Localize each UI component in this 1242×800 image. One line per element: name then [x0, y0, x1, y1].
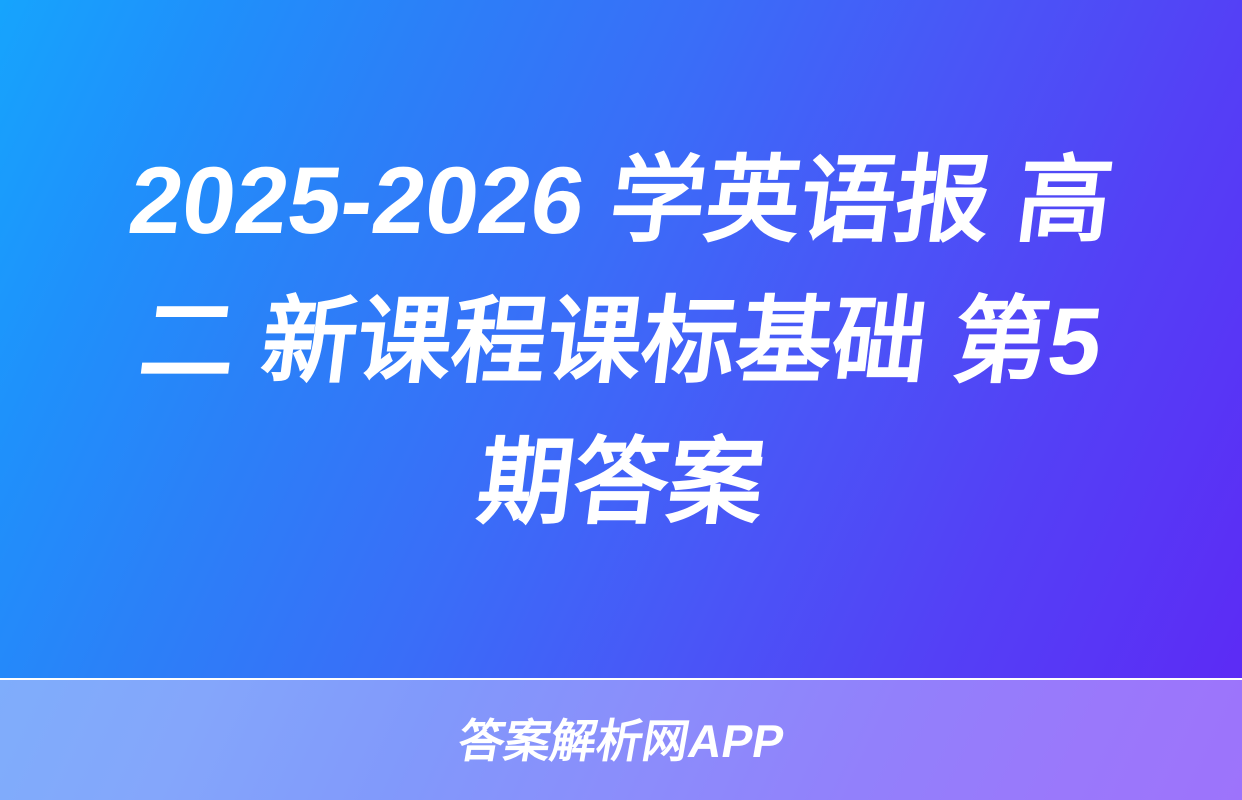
title-line-3: 期答案: [52, 413, 1189, 554]
title-line-2: 二 新课程课标基础 第5: [52, 272, 1189, 413]
footer-watermark-band: 答案解析网APP: [0, 680, 1242, 800]
hero-gradient-background: 2025-2026 学英语报 高 二 新课程课标基础 第5 期答案: [0, 0, 1242, 678]
title-line-1: 2025-2026 学英语报 高: [52, 131, 1189, 272]
poster-title: 2025-2026 学英语报 高 二 新课程课标基础 第5 期答案: [61, 125, 1181, 554]
poster-canvas: 2025-2026 学英语报 高 二 新课程课标基础 第5 期答案 答案解析网A…: [0, 0, 1242, 800]
watermark-label: 答案解析网APP: [454, 716, 787, 766]
